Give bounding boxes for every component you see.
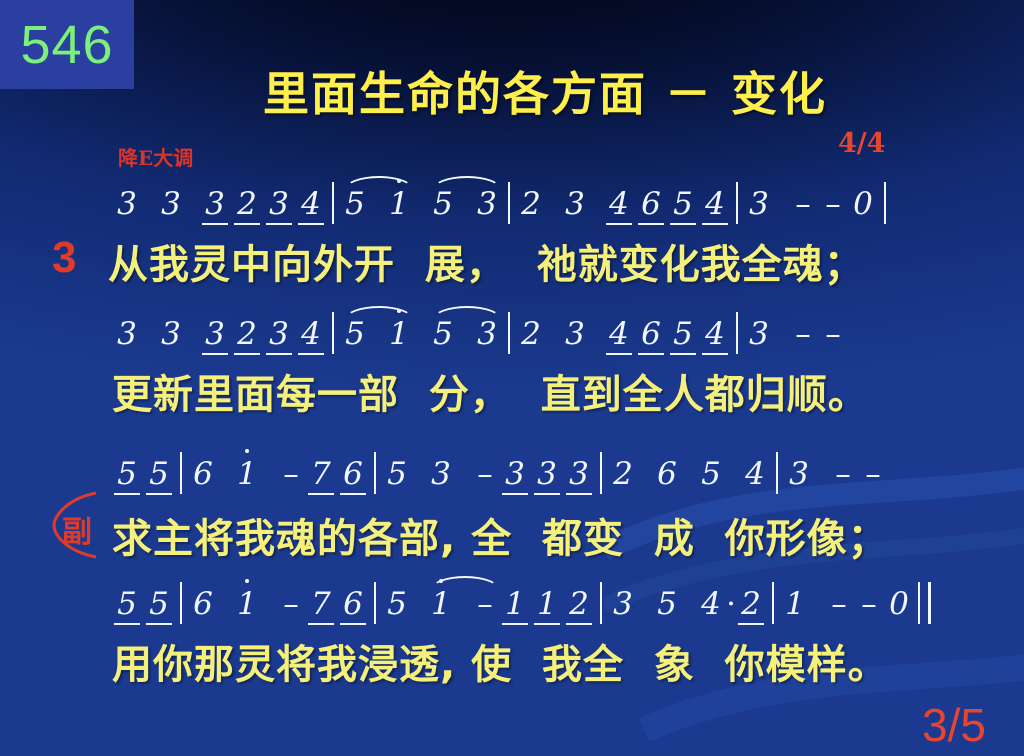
barline — [600, 452, 602, 494]
page-number: 3/5 — [922, 698, 986, 752]
note-6: 6 — [338, 586, 368, 622]
note-2: 2 — [736, 586, 766, 622]
note-4: 4 — [604, 316, 634, 352]
note-3: 3 — [784, 456, 814, 492]
barline — [374, 582, 376, 624]
note-1: 1 — [384, 186, 414, 222]
sustain-dash: – — [858, 456, 888, 492]
note-5: 5 — [340, 316, 370, 352]
sustain-dash: – — [818, 316, 848, 352]
chorus-marker-label: 副 — [46, 507, 108, 551]
sustain-dash: – — [788, 186, 818, 222]
barline — [508, 182, 510, 224]
slur-arc — [432, 306, 502, 320]
note-7: 7 — [306, 456, 336, 492]
note-5: 5 — [696, 456, 726, 492]
note-3: 3 — [744, 186, 774, 222]
note-3: 3 — [112, 316, 142, 352]
note-6: 6 — [188, 456, 218, 492]
sustain-dash: – — [818, 186, 848, 222]
note-3: 3 — [156, 316, 186, 352]
sustain-dash: – — [788, 316, 818, 352]
note-6: 6 — [652, 456, 682, 492]
slur-arc — [344, 176, 414, 190]
sustain-dash: – — [824, 586, 854, 622]
note-2: 2 — [232, 186, 262, 222]
barline — [772, 582, 774, 624]
note-1: 1 — [232, 456, 262, 492]
sustain-dash: – — [854, 586, 884, 622]
note-6: 6 — [338, 456, 368, 492]
note-3: 3 — [264, 186, 294, 222]
barline — [736, 312, 738, 354]
note-1: 1 — [232, 586, 262, 622]
time-signature: 4/4 — [838, 128, 885, 159]
sustain-dash: – — [828, 456, 858, 492]
note-1: 1 — [532, 586, 562, 622]
key-signature: 降E大调 — [118, 142, 193, 171]
note-4: 4 — [700, 186, 730, 222]
barline — [736, 182, 738, 224]
barline — [332, 182, 334, 224]
note-3: 3 — [560, 186, 590, 222]
note-3: 3 — [156, 186, 186, 222]
note-3: 3 — [200, 316, 230, 352]
note-5: 5 — [652, 586, 682, 622]
note-3: 3 — [472, 316, 502, 352]
note-3: 3 — [426, 456, 456, 492]
barline — [508, 312, 510, 354]
note-2: 2 — [608, 456, 638, 492]
barline — [180, 452, 182, 494]
lyric-line-1: 从我灵中向外开 展， 祂就变化我全魂； — [108, 232, 865, 290]
lyric-line-2: 更新里面每一部 分， 直到全人都归顺。 — [112, 362, 869, 420]
note-3: 3 — [112, 186, 142, 222]
notation-line-1: 33323451532346543––0 — [112, 182, 942, 230]
note-5: 5 — [382, 586, 412, 622]
note-5: 5 — [428, 186, 458, 222]
barline — [374, 452, 376, 494]
note-3: 3 — [532, 456, 562, 492]
chorus-marker: 副 — [46, 487, 108, 561]
note-1: 1 — [780, 586, 810, 622]
verse-number-marker: 3 — [52, 233, 76, 283]
note-2: 2 — [564, 586, 594, 622]
note-1: 1 — [426, 586, 456, 622]
note-5: 5 — [144, 456, 174, 492]
note-1: 1 — [384, 316, 414, 352]
note-0: 0 — [848, 186, 878, 222]
notation-line-2: 33323451532346543–– — [112, 312, 942, 360]
note-3: 3 — [564, 456, 594, 492]
note-5: 5 — [668, 186, 698, 222]
page-title: 里面生命的各方面 － 变化 — [150, 58, 940, 124]
slur-arc — [432, 176, 502, 190]
note-3: 3 — [744, 316, 774, 352]
note-4: 4 — [604, 186, 634, 222]
barline — [600, 582, 602, 624]
hymn-slide: 546 里面生命的各方面 － 变化 降E大调 4/4 3 副 333234515… — [0, 0, 1024, 756]
note-7: 7 — [306, 586, 336, 622]
lyric-line-4: 用你那灵将我浸透, 使 我全 象 你模样。 — [112, 632, 889, 690]
note-3: 3 — [608, 586, 638, 622]
barline — [180, 582, 182, 624]
barline — [884, 182, 886, 224]
note-2: 2 — [516, 186, 546, 222]
note-2: 2 — [232, 316, 262, 352]
sustain-dash: – — [276, 586, 306, 622]
notation-line-4: 5561–7651–112354·21––0 — [112, 582, 942, 630]
note-3: 3 — [200, 186, 230, 222]
note-4: 4 — [696, 586, 726, 622]
note-6: 6 — [636, 316, 666, 352]
note-5: 5 — [668, 316, 698, 352]
sustain-dash: – — [470, 586, 500, 622]
barline — [776, 452, 778, 494]
note-5: 5 — [340, 186, 370, 222]
note-3: 3 — [472, 186, 502, 222]
final-barline — [918, 582, 931, 624]
note-0: 0 — [884, 586, 914, 622]
notation-line-3: 5561–7653–33326543–– — [112, 452, 942, 500]
note-3: 3 — [264, 316, 294, 352]
note-3: 3 — [500, 456, 530, 492]
lyric-line-3: 求主将我魂的各部, 全 都变 成 你形像； — [112, 506, 889, 564]
note-2: 2 — [516, 316, 546, 352]
note-4: 4 — [296, 316, 326, 352]
note-5: 5 — [112, 456, 142, 492]
note-5: 5 — [428, 316, 458, 352]
note-5: 5 — [144, 586, 174, 622]
note-3: 3 — [560, 316, 590, 352]
hymn-number-badge: 546 — [0, 0, 134, 89]
sustain-dash: – — [276, 456, 306, 492]
slur-arc — [344, 306, 414, 320]
note-4: 4 — [296, 186, 326, 222]
note-6: 6 — [188, 586, 218, 622]
note-5: 5 — [112, 586, 142, 622]
note-4: 4 — [740, 456, 770, 492]
hymn-number: 546 — [20, 18, 113, 72]
augmentation-dot: · — [726, 586, 736, 622]
note-1: 1 — [500, 586, 530, 622]
note-5: 5 — [382, 456, 412, 492]
note-6: 6 — [636, 186, 666, 222]
sustain-dash: – — [470, 456, 500, 492]
barline — [332, 312, 334, 354]
note-4: 4 — [700, 316, 730, 352]
